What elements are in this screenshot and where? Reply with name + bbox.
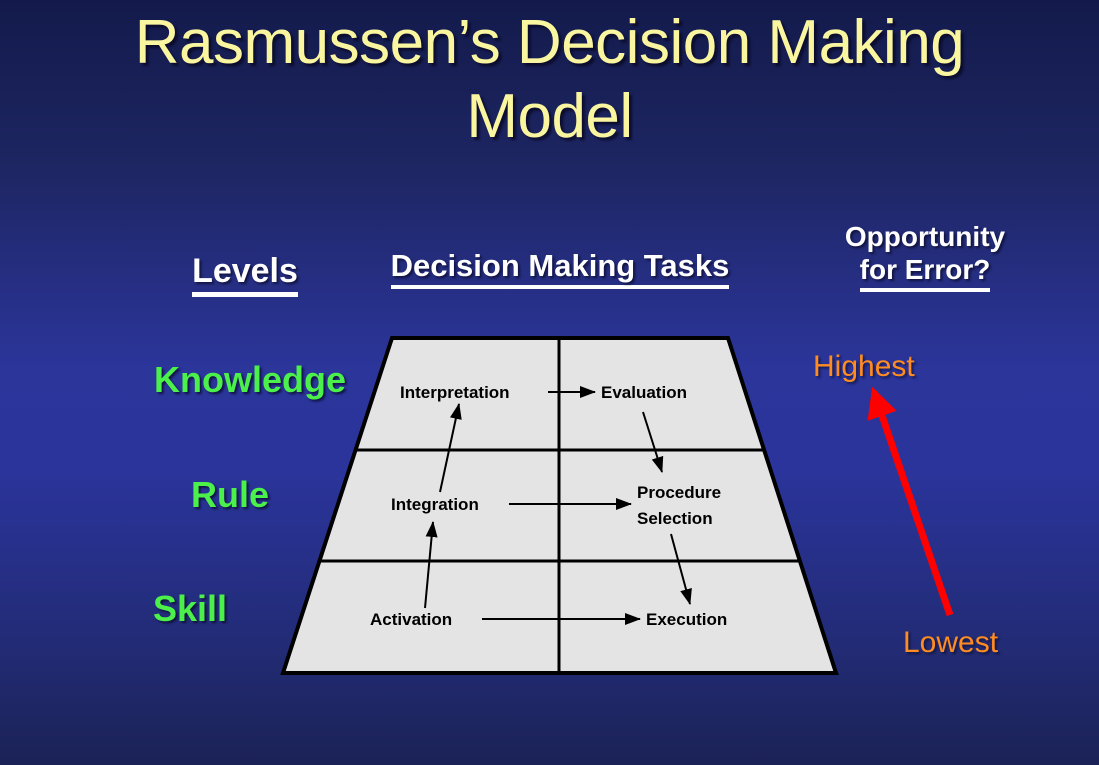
flow-activation-to-integration	[425, 522, 433, 608]
task-label-activation: Activation	[370, 610, 452, 629]
column-header-tasks-text: Decision Making Tasks	[391, 248, 730, 289]
task-label-interpretation: Interpretation	[400, 383, 510, 402]
task-label-selection: Selection	[637, 509, 713, 528]
task-label-procedure: Procedure	[637, 483, 721, 502]
column-header-opportunity-line2: for Error?	[860, 253, 991, 292]
flow-integration-to-interpretation	[440, 404, 459, 492]
column-header-levels: Levels	[150, 252, 340, 291]
column-header-levels-text: Levels	[192, 252, 298, 297]
page-title: Rasmussen’s Decision Making Model	[0, 6, 1099, 154]
opportunity-scale-arrow	[874, 392, 950, 615]
slide-canvas: Rasmussen’s Decision Making Model Levels…	[0, 0, 1099, 765]
level-label-skill: Skill	[60, 588, 320, 630]
flow-procedure-selection-to-execution	[671, 534, 690, 604]
scale-label-highest: Highest	[813, 350, 915, 384]
flow-evaluation-to-procedure-selection	[643, 412, 662, 472]
task-label-integration: Integration	[391, 495, 479, 514]
task-label-evaluation: Evaluation	[601, 383, 687, 402]
level-label-knowledge: Knowledge	[120, 359, 380, 401]
scale-label-lowest: Lowest	[903, 626, 998, 660]
column-header-opportunity-line1: Opportunity	[800, 220, 1050, 253]
level-label-rule: Rule	[100, 474, 360, 516]
column-header-tasks: Decision Making Tasks	[355, 248, 765, 284]
task-label-execution: Execution	[646, 610, 727, 629]
column-header-opportunity: Opportunity for Error?	[800, 220, 1050, 292]
